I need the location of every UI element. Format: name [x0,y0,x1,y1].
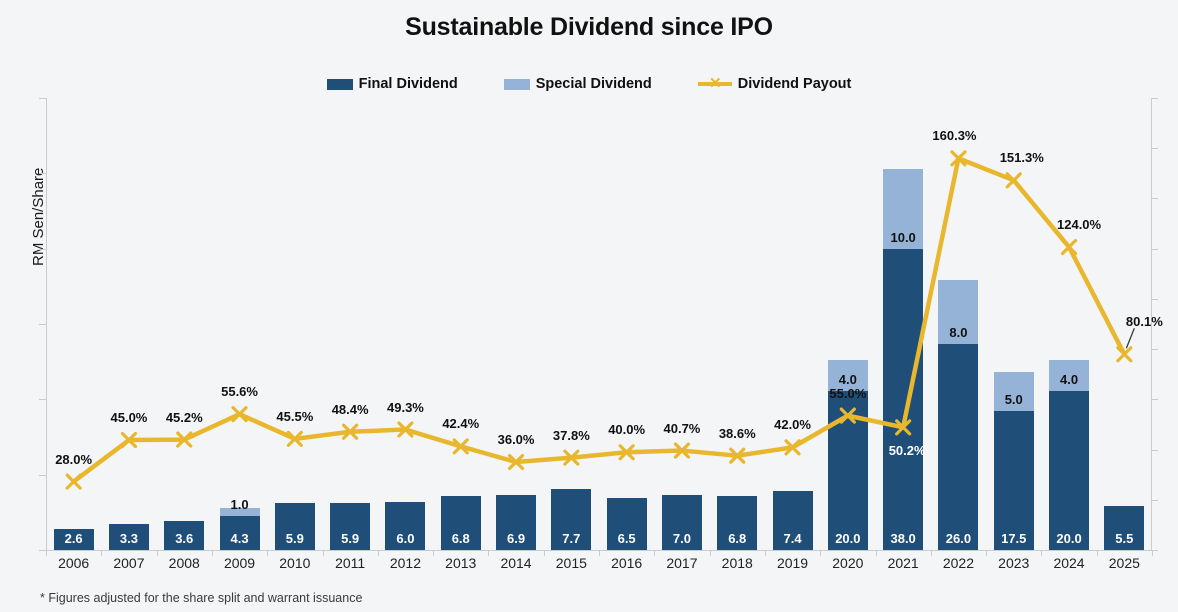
payout-marker[interactable] [344,425,357,438]
payout-data-label: 36.0% [498,432,535,447]
payout-marker[interactable] [233,408,246,421]
payout-marker[interactable] [675,444,688,457]
bar-final-dividend[interactable]: 20.0 [1049,391,1089,550]
x-axis-label: 2024 [1041,555,1096,571]
payout-data-label: 50.2% [889,443,926,458]
special-dividend-swatch-icon [504,79,530,90]
payout-data-label: 160.3% [932,128,976,143]
bar-final-dividend[interactable]: 6.8 [441,496,481,550]
y-axis-left-tick [39,173,46,174]
y-axis-left [46,98,47,550]
bar-final-dividend[interactable]: 3.6 [164,521,204,550]
bar-value-label: 3.6 [164,531,204,546]
x-axis-label: 2006 [46,555,101,571]
x-axis-label: 2019 [765,555,820,571]
bar-group[interactable]: 20.04.0 [1049,360,1089,550]
bar-value-label: 5.9 [330,531,370,546]
bar-group[interactable]: 5.9 [275,503,315,550]
payout-data-label: 28.0% [55,452,92,467]
bar-value-label: 6.8 [717,531,757,546]
x-axis-label: 2011 [323,555,378,571]
bar-final-dividend[interactable]: 5.9 [275,503,315,550]
bar-value-label: 6.0 [385,531,425,546]
payout-data-label: 42.4% [442,416,479,431]
bar-special-dividend[interactable]: 8.0 [938,280,978,343]
bar-group[interactable]: 6.0 [385,502,425,550]
bar-value-label: 7.4 [773,531,813,546]
payout-marker[interactable] [786,441,799,454]
x-axis-label: 2014 [488,555,543,571]
x-axis-label: 2018 [710,555,765,571]
payout-data-label: 55.6% [221,384,258,399]
payout-data-label: 38.6% [719,426,756,441]
bar-value-label: 4.3 [220,531,260,546]
payout-data-label: 42.0% [774,417,811,432]
payout-data-label: 80.1% [1126,314,1163,329]
payout-marker[interactable] [122,434,135,447]
x-axis-label: 2013 [433,555,488,571]
payout-data-label: 55.0% [829,386,866,401]
bar-final-dividend[interactable]: 6.8 [717,496,757,550]
payout-line-series [46,98,1152,550]
x-axis-label: 2009 [212,555,267,571]
bar-value-label: 7.0 [662,531,702,546]
bar-group[interactable]: 7.4 [773,491,813,550]
x-axis-label: 2012 [378,555,433,571]
bar-special-dividend[interactable]: 10.0 [883,169,923,248]
y-axis-left-tick [39,249,46,250]
bar-final-dividend[interactable]: 6.0 [385,502,425,550]
y-axis-left-tick [39,98,46,99]
bar-value-label: 6.8 [441,531,481,546]
x-axis-label: 2022 [931,555,986,571]
bar-group[interactable]: 7.7 [551,489,591,550]
x-axis-label: 2016 [599,555,654,571]
x-axis-label: 2021 [876,555,931,571]
bar-value-label: 6.5 [607,531,647,546]
bar-value-label: 1.0 [220,497,260,512]
y-axis-right-tick [1151,98,1158,99]
dividend-payout-line-icon: ✕ [698,77,732,91]
bar-special-dividend[interactable]: 1.0 [220,508,260,516]
bar-final-dividend[interactable]: 6.9 [496,495,536,550]
bar-value-label: 17.5 [994,531,1034,546]
bar-group[interactable]: 3.3 [109,524,149,550]
bar-value-label: 4.0 [1049,372,1089,387]
payout-data-label: 45.5% [276,409,313,424]
legend-label-special-dividend: Special Dividend [536,76,652,92]
bar-final-dividend[interactable]: 20.0 [828,391,868,550]
payout-marker[interactable] [1118,348,1131,361]
bar-value-label: 38.0 [883,531,923,546]
y-axis-right-tick [1151,299,1158,300]
legend-label-dividend-payout: Dividend Payout [738,76,852,92]
payout-data-label: 124.0% [1057,217,1101,232]
label-leader-line [1126,328,1134,348]
bar-group[interactable]: 26.08.0 [938,280,978,550]
bar-final-dividend[interactable]: 5.9 [330,503,370,550]
bar-special-dividend[interactable]: 5.0 [994,372,1034,412]
bar-group[interactable]: 6.8 [717,496,757,550]
y-axis-right-tick [1151,450,1158,451]
y-axis-right-tick [1151,148,1158,149]
x-axis-label: 2008 [157,555,212,571]
bar-group[interactable]: 6.9 [496,495,536,550]
bar-final-dividend[interactable]: 4.3 [220,516,260,550]
x-axis-label: 2015 [544,555,599,571]
bar-value-label: 8.0 [938,325,978,340]
legend-label-final-dividend: Final Dividend [359,76,458,92]
y-axis-right-tick [1151,500,1158,501]
legend-item-special-dividend[interactable]: Special Dividend [504,76,652,92]
bar-value-label: 7.7 [551,531,591,546]
legend-item-dividend-payout[interactable]: ✕ Dividend Payout [698,76,852,92]
y-axis-title: RM Sen/Share [30,168,47,266]
payout-data-label: 49.3% [387,400,424,415]
payout-marker[interactable] [288,432,301,445]
y-axis-right-tick [1151,399,1158,400]
bar-final-dividend[interactable]: 7.0 [662,495,702,551]
final-dividend-swatch-icon [327,79,353,90]
payout-data-label: 45.0% [111,410,148,425]
payout-marker[interactable] [1063,241,1076,254]
bar-final-dividend[interactable]: 5.5 [1104,506,1144,550]
bar-value-label: 6.9 [496,531,536,546]
x-axis-label: 2020 [820,555,875,571]
x-axis-label: 2025 [1097,555,1152,571]
bar-group[interactable]: 5.5 [1104,506,1144,550]
bar-group[interactable]: 6.8 [441,496,481,550]
x-axis-label: 2007 [101,555,156,571]
payout-data-label: 40.7% [664,421,701,436]
bar-final-dividend[interactable]: 7.4 [773,491,813,550]
legend-item-final-dividend[interactable]: Final Dividend [327,76,458,92]
x-axis-label: 2023 [986,555,1041,571]
bar-final-dividend[interactable]: 2.6 [54,529,94,550]
bar-group[interactable]: 6.5 [607,498,647,550]
bar-value-label: 10.0 [883,230,923,245]
bar-group[interactable]: 17.55.0 [994,372,1034,550]
chart-legend: Final Dividend Special Dividend ✕ Divide… [0,76,1178,92]
bar-group[interactable]: 2.6 [54,529,94,550]
y-axis-left-tick [39,475,46,476]
payout-marker[interactable] [399,423,412,436]
bar-value-label: 5.0 [994,392,1034,407]
bar-value-label: 26.0 [938,531,978,546]
x-axis-label: 2010 [267,555,322,571]
y-axis-left-tick [39,324,46,325]
page-title: Sustainable Dividend since IPO [0,13,1178,42]
payout-marker[interactable] [510,456,523,469]
bar-value-label: 3.3 [109,531,149,546]
y-axis-right-tick [1151,349,1158,350]
payout-data-label: 48.4% [332,402,369,417]
payout-data-label: 37.8% [553,428,590,443]
bar-group[interactable]: 7.0 [662,495,702,551]
x-axis-labels: 2006200720082009201020112012201320142015… [46,555,1152,577]
bar-final-dividend[interactable]: 7.7 [551,489,591,550]
bar-final-dividend[interactable]: 26.0 [938,344,978,550]
payout-data-label: 40.0% [608,422,645,437]
plot-area: RM Sen/Share 2.63.33.64.31.05.95.96.06.8… [46,98,1152,550]
bar-special-dividend[interactable]: 4.0 [1049,360,1089,392]
bar-value-label: 20.0 [1049,531,1089,546]
bar-final-dividend[interactable]: 3.3 [109,524,149,550]
bar-group[interactable]: 5.9 [330,503,370,550]
payout-data-label: 151.3% [1000,150,1044,165]
dividend-chart: Sustainable Dividend since IPO Final Div… [0,0,1178,612]
bar-value-label: 5.5 [1104,531,1144,546]
y-axis-right-tick [1151,249,1158,250]
payout-data-label: 45.2% [166,410,203,425]
bar-value-label: 2.6 [54,531,94,546]
payout-marker[interactable] [565,451,578,464]
payout-marker[interactable] [454,440,467,453]
bar-group[interactable]: 38.010.0 [883,169,923,550]
payout-marker[interactable] [67,475,80,488]
y-axis-right-tick [1151,198,1158,199]
bar-group[interactable]: 3.6 [164,521,204,550]
bar-final-dividend[interactable]: 6.5 [607,498,647,550]
bar-value-label: 5.9 [275,531,315,546]
payout-marker[interactable] [178,433,191,446]
payout-marker[interactable] [731,449,744,462]
bar-group[interactable]: 4.31.0 [220,508,260,550]
bar-value-label: 20.0 [828,531,868,546]
x-axis-tick [1152,550,1153,556]
y-axis-left-tick [39,550,46,551]
x-axis-label: 2017 [654,555,709,571]
chart-footnote: * Figures adjusted for the share split a… [40,591,362,605]
payout-marker[interactable] [620,446,633,459]
payout-marker[interactable] [1007,174,1020,187]
payout-marker[interactable] [952,152,965,165]
bar-final-dividend[interactable]: 17.5 [994,411,1034,550]
bar-final-dividend[interactable]: 38.0 [883,249,923,550]
y-axis-left-tick [39,399,46,400]
